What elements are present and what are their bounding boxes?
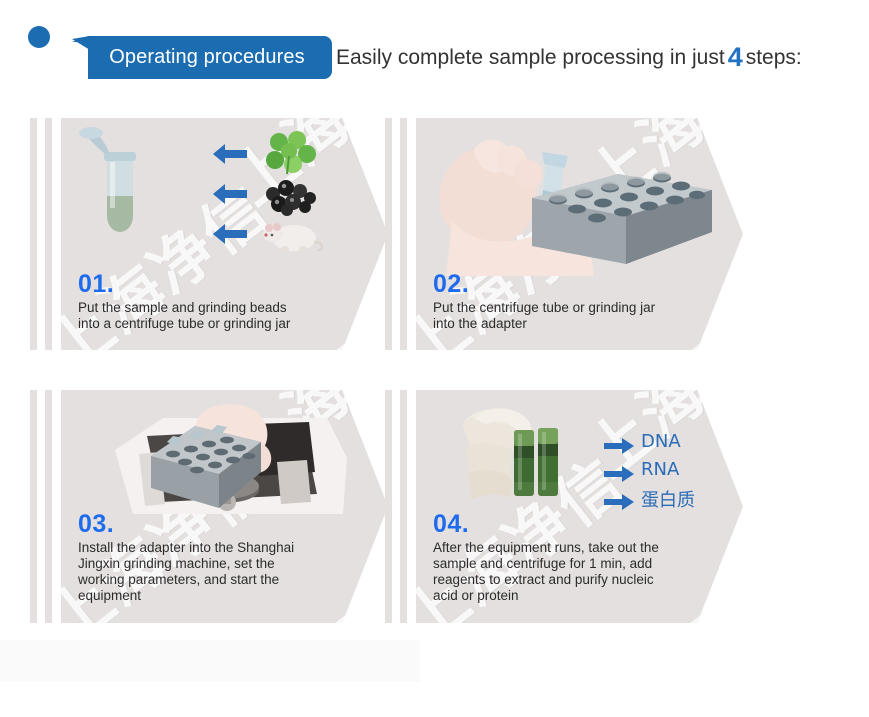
step-accent-bar-inner	[45, 118, 52, 350]
arrow-left-icon	[213, 224, 247, 244]
white-mouse-icon	[263, 223, 322, 252]
step-accent-bar-outer	[385, 118, 392, 350]
output-label-dna: DNA	[641, 431, 681, 452]
centrifuge-tube-icon	[79, 127, 136, 232]
header-tagline: Easily complete sample processing in jus…	[336, 36, 802, 79]
operating-procedures-badge: Operating procedures	[72, 36, 332, 79]
black-beads-icon	[266, 180, 316, 216]
step-number: 03.	[78, 510, 114, 539]
output-label-rna: RNA	[641, 459, 679, 480]
arrow-right-icon	[604, 466, 634, 482]
bottom-filler-block	[0, 640, 420, 682]
output-label-protein: 蛋白质	[641, 486, 695, 512]
step-panel-03: 上海净信 上海净信	[30, 390, 388, 623]
step-accent-bar-outer	[385, 390, 392, 623]
step-accent-bar-outer	[30, 390, 37, 623]
arrow-right-icon	[604, 494, 634, 510]
step-description: Install the adapter into the Shanghai Ji…	[78, 540, 328, 604]
sample-tube-icon	[514, 430, 534, 496]
adapter-into-machine-illustration	[103, 398, 353, 528]
step-accent-bar-inner	[400, 390, 407, 623]
arrow-right-icon	[604, 438, 634, 454]
badge-label: Operating procedures	[72, 36, 332, 79]
step-number: 04.	[433, 510, 469, 539]
step-description: After the equipment runs, take out the s…	[433, 540, 683, 604]
tagline-step-count: 4	[725, 44, 746, 71]
centrifuge-tube-illustration	[61, 118, 388, 278]
step-number: 02.	[433, 270, 469, 299]
arrow-left-icon	[213, 184, 247, 204]
sample-tube-icon	[538, 428, 558, 496]
step-panel-04: 上海净信 上海净信	[385, 390, 743, 623]
arrow-left-icon	[213, 144, 247, 164]
step-accent-bar-outer	[30, 118, 37, 350]
tagline-text-before: Easily complete sample processing in jus…	[336, 46, 725, 70]
step-accent-bar-inner	[45, 390, 52, 623]
page-header: Operating procedures Easily complete sam…	[0, 0, 869, 100]
step-panel-02: 上海净信 上海净信	[385, 118, 743, 350]
header-accent-dot	[28, 26, 50, 48]
step-description: Put the centrifuge tube or grinding jar …	[433, 300, 683, 332]
step-number: 01.	[78, 270, 114, 299]
green-leaf-icon	[266, 131, 316, 174]
step-panel-01: 上海净信 上海净信	[30, 118, 388, 350]
step-description: Put the sample and grinding beads into a…	[78, 300, 328, 332]
gloved-hand-with-tubes-illustration	[458, 400, 588, 520]
hand-placing-tube-illustration	[422, 124, 722, 284]
tagline-text-after: steps:	[746, 46, 802, 70]
step-accent-bar-inner	[400, 118, 407, 350]
